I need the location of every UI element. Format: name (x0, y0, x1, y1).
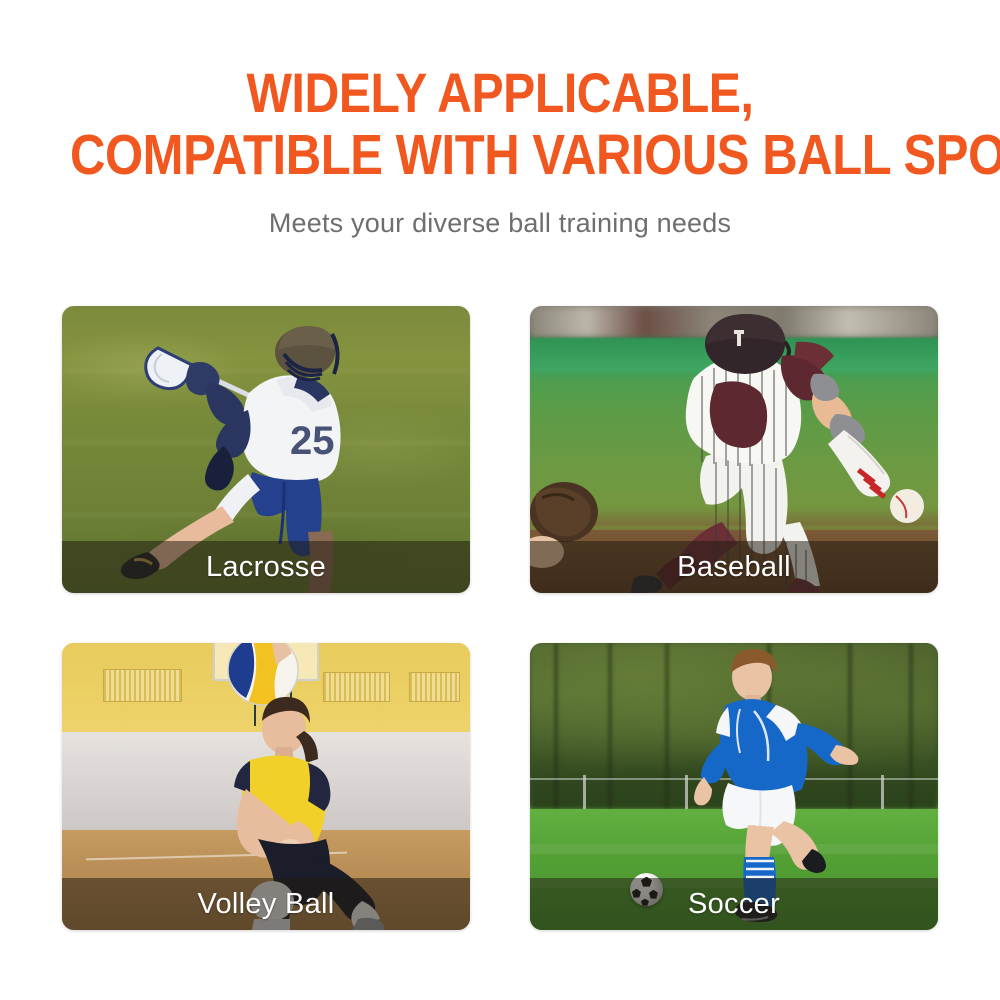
page-title-line-2: COMPATIBLE WITH VARIOUS BALL SPORTS (70, 124, 930, 186)
sport-card-baseball[interactable]: Baseball (530, 306, 938, 593)
lacrosse-caption: Lacrosse (206, 551, 326, 584)
sport-card-volleyball[interactable]: Volley Ball (62, 643, 470, 930)
promo-header: WIDELY APPLICABLE, COMPATIBLE WITH VARIO… (0, 0, 1000, 239)
soccer-caption: Soccer (688, 888, 780, 921)
sport-card-soccer[interactable]: Soccer (530, 643, 938, 930)
page-subtitle: Meets your diverse ball training needs (0, 186, 1000, 239)
baseball-caption-bar: Baseball (530, 541, 938, 593)
page-title-line-1: WIDELY APPLICABLE, (70, 0, 930, 124)
baseball-caption: Baseball (677, 551, 791, 584)
svg-text:25: 25 (290, 419, 335, 463)
volleyball-caption: Volley Ball (197, 888, 334, 921)
sport-card-lacrosse[interactable]: 25 (62, 306, 470, 593)
lacrosse-caption-bar: Lacrosse (62, 541, 470, 593)
sports-gallery-grid: 25 (62, 306, 938, 930)
soccer-caption-bar: Soccer (530, 878, 938, 930)
volleyball-caption-bar: Volley Ball (62, 878, 470, 930)
